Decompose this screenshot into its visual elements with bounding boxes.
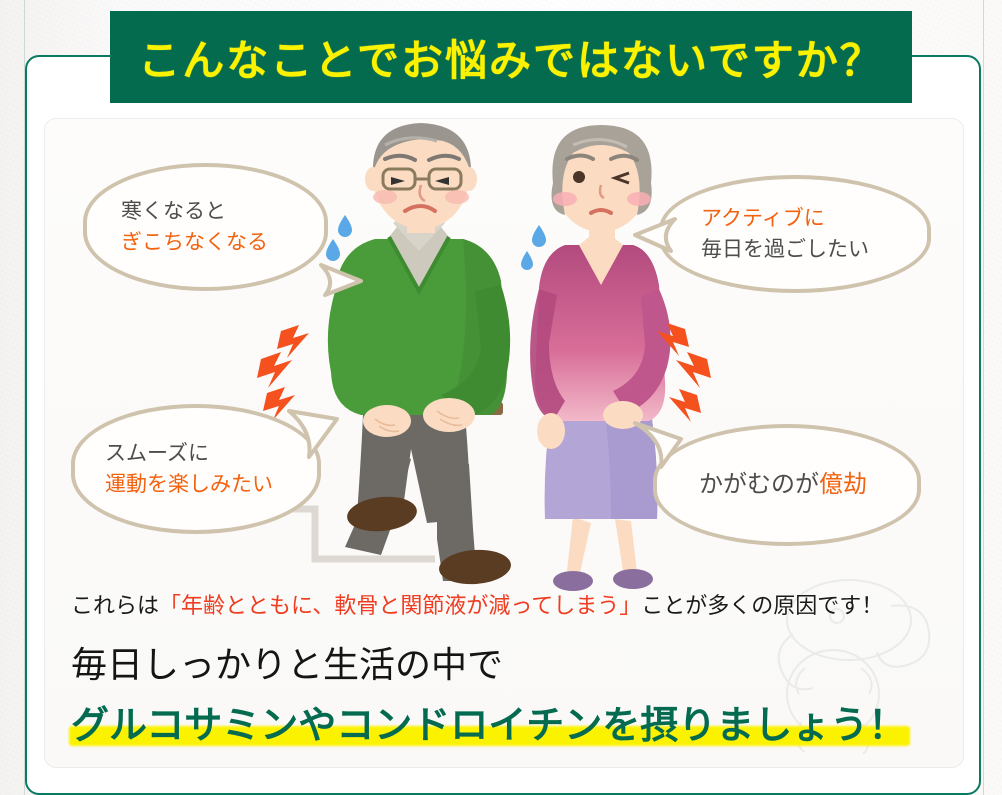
headline-secondary-wrap: グルコサミンやコンドロイチンを摂りましょう！	[71, 694, 906, 749]
bubble-cold-tail	[317, 255, 365, 303]
bubble-crouch-line2: 億劫	[819, 471, 867, 498]
bubble-cold-line1: 寒くなると	[121, 196, 324, 228]
man-hand-left	[363, 405, 411, 437]
lead-line: これらは「年齢とともに、軟骨と関節液が減ってしまう」ことが多くの原因です！	[71, 588, 951, 620]
bubble-crouch-line1: かがむのが	[699, 471, 819, 498]
woman-shoe-right	[613, 569, 653, 589]
bubble-crouch-text: かがむのが億劫	[699, 467, 917, 503]
headline-secondary: グルコサミンやコンドロイチンを摂りましょう！	[71, 694, 906, 749]
lead-quoted: 「年齢とともに、軟骨と関節液が減ってしまう」	[159, 594, 641, 619]
woman-eye-open	[573, 171, 585, 183]
bubble-smooth-line2: 運動を楽しみたい	[105, 469, 317, 501]
page-title: こんなことでお悩みではないですか？	[138, 27, 883, 88]
bubble-cold: 寒くなると ぎこちなくなる	[83, 163, 328, 291]
elderly-man-figure	[328, 123, 512, 586]
bubble-cold-line2: ぎこちなくなる	[121, 227, 324, 259]
lead-suffix: ことが多くの原因です！	[641, 594, 883, 619]
man-hand-right	[423, 398, 475, 432]
inner-card: 寒くなると ぎこちなくなる アクティブに 毎日を過ごしたい スムーズに 運動を楽…	[44, 118, 964, 768]
bubble-active-line1: アクティブに	[701, 203, 927, 235]
copy-block: これらは「年齢とともに、軟骨と関節液が減ってしまう」ことが多くの原因です！ 毎日…	[71, 588, 951, 749]
headline-primary: 毎日しっかりと生活の中で	[71, 636, 951, 688]
bubble-crouch: かがむのが億劫	[653, 424, 921, 546]
bubble-active: アクティブに 毎日を過ごしたい	[659, 175, 931, 293]
bubble-active-tail	[631, 211, 679, 259]
right-edge-rule	[983, 0, 984, 795]
elderly-woman-figure	[530, 125, 670, 591]
header-banner: こんなことでお悩みではないですか？	[110, 11, 912, 103]
lead-prefix: これらは	[71, 594, 159, 619]
bubble-active-line2: 毎日を過ごしたい	[701, 234, 927, 266]
bubble-smooth-tail	[283, 405, 343, 465]
sweat-drop-icon	[521, 225, 546, 270]
bubble-crouch-tail	[631, 419, 687, 475]
